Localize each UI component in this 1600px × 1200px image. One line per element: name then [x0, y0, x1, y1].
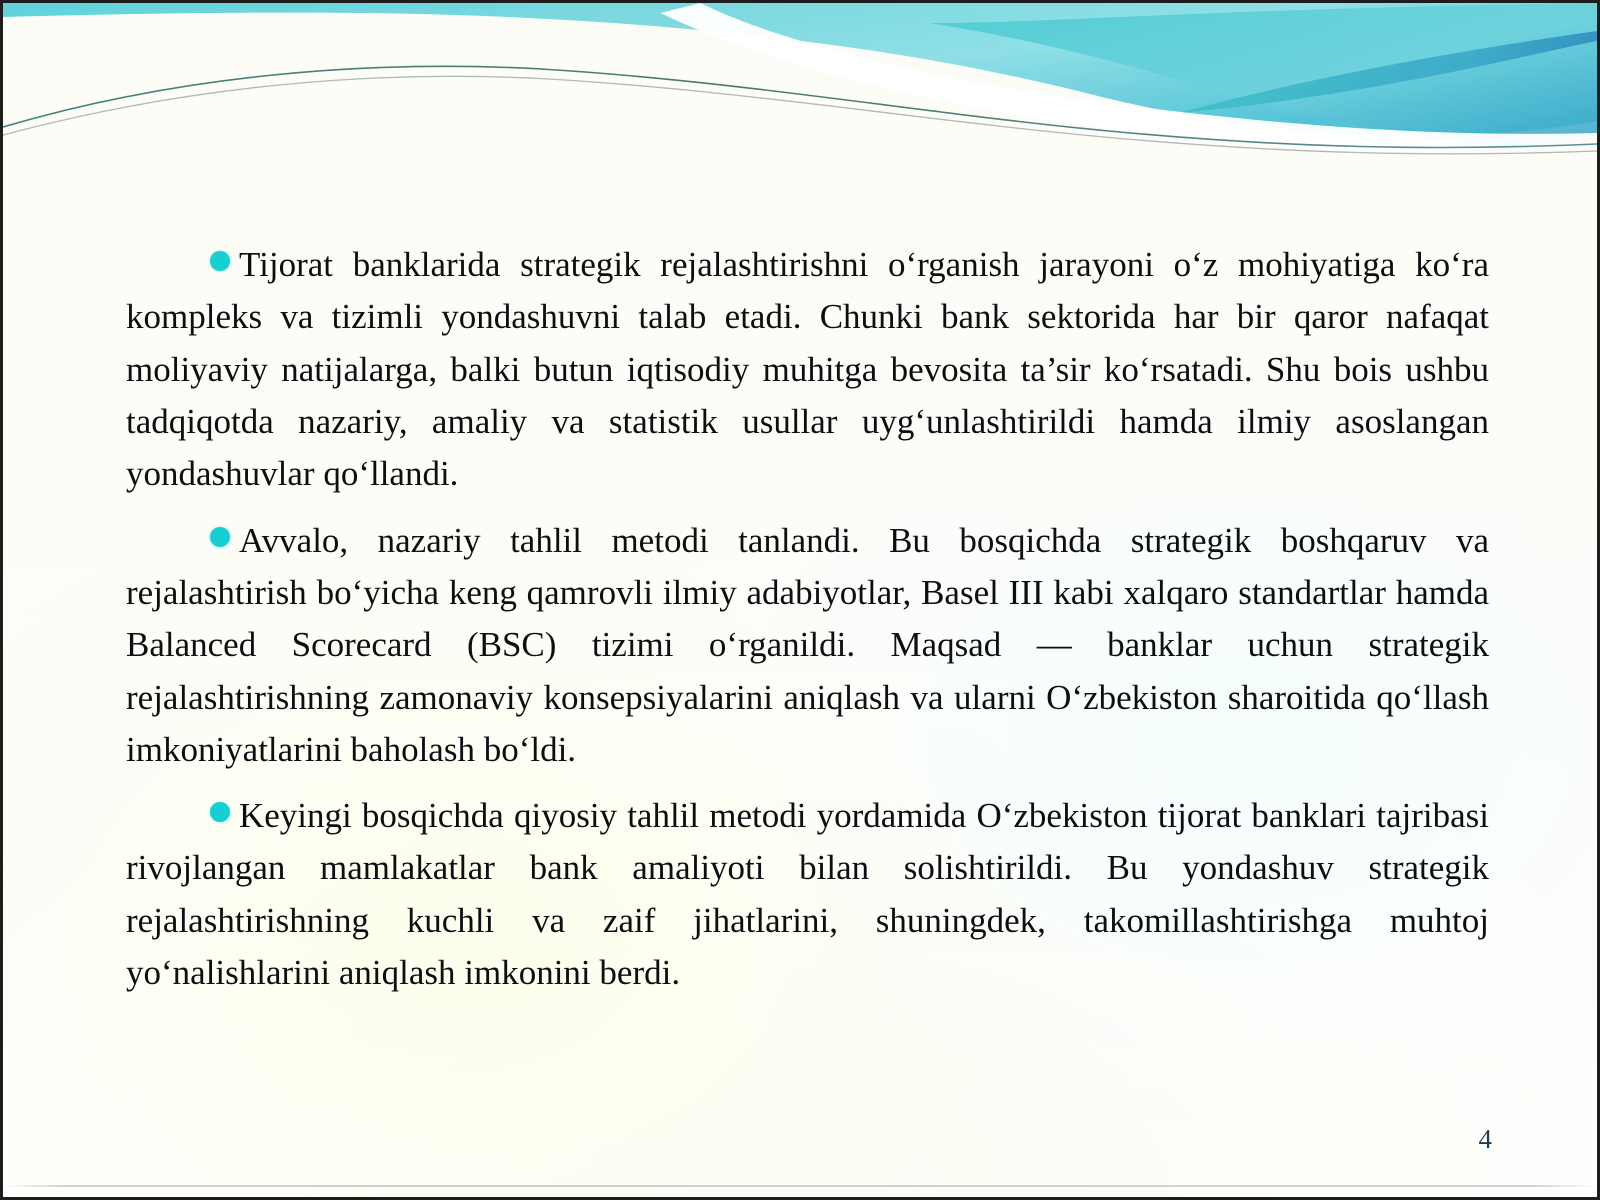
- bullet-paragraph-3-text: Keyingi bosqichda qiyosiy tahlil metodi …: [126, 796, 1489, 992]
- bullet-dot-icon: [210, 802, 230, 822]
- bullet-paragraph-3: Keyingi bosqichda qiyosiy tahlil metodi …: [126, 790, 1489, 999]
- slide-body: Tijorat banklarida strategik rejalashtir…: [126, 239, 1489, 999]
- page-number: 4: [1479, 1124, 1493, 1155]
- bullet-paragraph-2-text: Avvalo, nazariy tahlil metodi tanlandi. …: [126, 521, 1489, 769]
- footer-hairline: [3, 1185, 1597, 1187]
- presentation-slide: Tijorat banklarida strategik rejalashtir…: [0, 0, 1600, 1200]
- bullet-paragraph-1-text: Tijorat banklarida strategik rejalashtir…: [126, 245, 1489, 493]
- bullet-paragraph-2: Avvalo, nazariy tahlil metodi tanlandi. …: [126, 515, 1489, 777]
- bullet-paragraph-1: Tijorat banklarida strategik rejalashtir…: [126, 239, 1489, 501]
- bullet-dot-icon: [210, 527, 230, 547]
- bullet-dot-icon: [210, 251, 230, 271]
